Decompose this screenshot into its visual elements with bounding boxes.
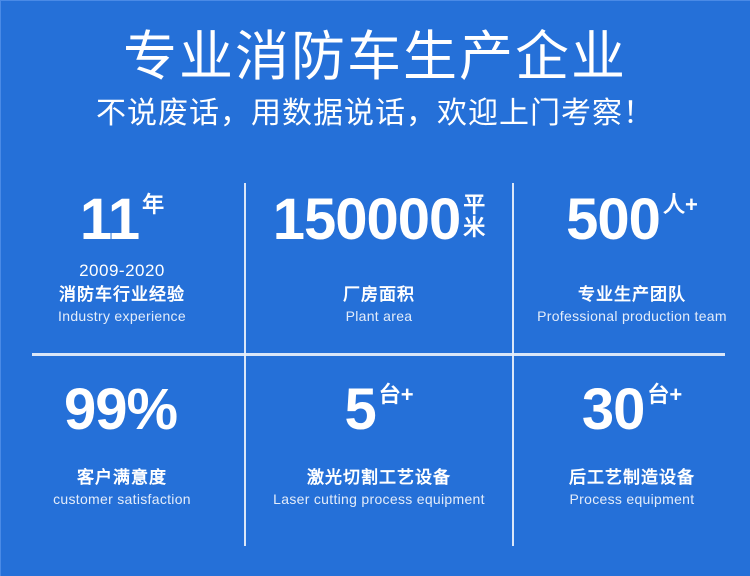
stat-value-row: 99%: [0, 381, 244, 443]
page-title: 专业消防车生产企业: [0, 26, 750, 88]
stat-unit: 台+: [647, 384, 682, 406]
stat-number: 5: [344, 381, 375, 439]
stat-number: 150000: [273, 191, 461, 249]
stat-label-en: Laser cutting process equipment: [246, 490, 512, 508]
stat-cell-plant-area: 150000 平 米 厂房面积 Plant area: [246, 191, 512, 349]
stat-value-row: 11 年: [0, 191, 244, 253]
stat-value-row: 150000 平 米: [246, 191, 512, 253]
grid-divider-horizontal: [32, 353, 725, 356]
stat-label-en: Process equipment: [514, 490, 750, 508]
stat-value-row: 5 台+: [246, 381, 512, 443]
stat-unit: 人+: [663, 194, 698, 216]
stat-cell-industry-experience: 11 年 2009-2020 消防车行业经验 Industry experien…: [0, 191, 244, 349]
stat-label-cn: 厂房面积: [246, 284, 512, 306]
stat-label-cn: 专业生产团队: [514, 284, 750, 306]
stat-label-cn: 消防车行业经验: [0, 284, 244, 306]
stat-label-cn: 激光切割工艺设备: [246, 467, 512, 489]
stat-unit: 台+: [379, 384, 414, 406]
stat-value-row: 500 人+: [514, 191, 750, 253]
stat-unit: 平 米: [463, 193, 485, 239]
banner-header: 专业消防车生产企业 不说废话，用数据说话，欢迎上门考察！: [0, 26, 750, 134]
stat-label-en: customer satisfaction: [0, 490, 244, 508]
stat-label-cn: 后工艺制造设备: [514, 467, 750, 489]
stat-cell-laser-cutting-equipment: 5 台+ 激光切割工艺设备 Laser cutting process equi…: [246, 381, 512, 539]
stat-cell-process-equipment: 30 台+ 后工艺制造设备 Process equipment: [514, 381, 750, 539]
stat-label-en: Professional production team: [514, 307, 750, 325]
promo-banner: 专业消防车生产企业 不说废话，用数据说话，欢迎上门考察！ 11 年 2009-2…: [0, 0, 750, 576]
stat-unit: 年: [142, 194, 164, 216]
page-subtitle: 不说废话，用数据说话，欢迎上门考察！: [0, 94, 750, 134]
stat-number: 11: [80, 191, 139, 249]
stat-label-en: Plant area: [246, 307, 512, 325]
stat-range: 2009-2020: [0, 261, 244, 281]
stat-number: 30: [582, 381, 645, 439]
stat-cell-customer-satisfaction: 99% 客户满意度 customer satisfaction: [0, 381, 244, 539]
stat-number: 99%: [64, 381, 177, 439]
stat-number: 500: [566, 191, 660, 249]
stat-label-cn: 客户满意度: [0, 467, 244, 489]
stat-cell-production-team: 500 人+ 专业生产团队 Professional production te…: [514, 191, 750, 349]
stats-grid: 11 年 2009-2020 消防车行业经验 Industry experien…: [0, 183, 750, 546]
stat-label-en: Industry experience: [0, 307, 244, 325]
stat-value-row: 30 台+: [514, 381, 750, 443]
